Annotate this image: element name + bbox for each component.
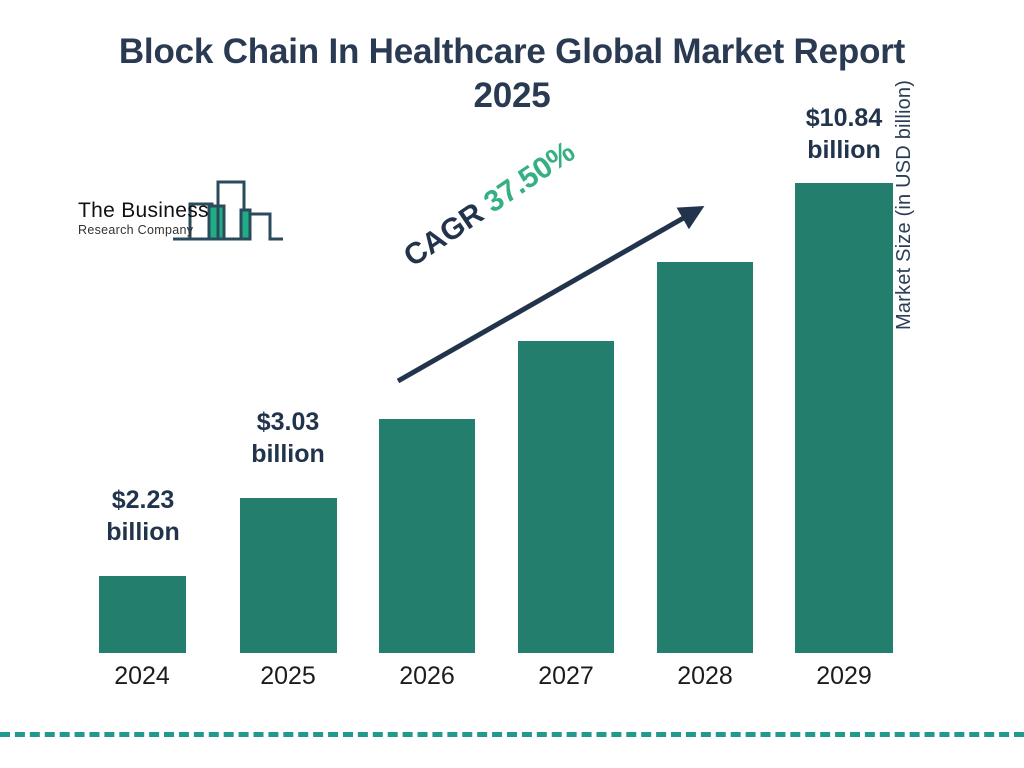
x-tick-2025: 2025	[228, 662, 348, 691]
value-label-2024: $2.23 billion	[77, 484, 209, 548]
chart-canvas: Block Chain In Healthcare Global Market …	[0, 0, 1024, 768]
x-tick-2026: 2026	[367, 662, 487, 691]
cagr-annotation: CAGR 37.50%	[398, 135, 582, 274]
bar-2024[interactable]	[99, 576, 186, 653]
x-tick-2027: 2027	[506, 662, 626, 691]
bar-2029[interactable]	[795, 183, 893, 653]
logo-text: The Business Research Company	[78, 200, 209, 238]
value-label-2029: $10.84 billion	[778, 102, 910, 166]
y-axis-title: Market Size (in USD billion)	[893, 10, 916, 330]
cagr-label: CAGR	[398, 197, 490, 274]
bar-2028[interactable]	[657, 262, 753, 653]
bar-2026[interactable]	[379, 419, 475, 653]
company-logo: The Business Research Company	[78, 176, 283, 248]
logo-line-1: The Business	[78, 200, 209, 222]
x-tick-2024: 2024	[82, 662, 202, 691]
bar-2025[interactable]	[240, 498, 337, 653]
logo-line-2: Research Company	[78, 223, 209, 238]
bar-2027[interactable]	[518, 341, 614, 653]
footer-divider	[0, 732, 1024, 737]
cagr-value: 37.50%	[478, 135, 581, 219]
x-tick-2028: 2028	[645, 662, 765, 691]
x-tick-2029: 2029	[784, 662, 904, 691]
value-label-2025: $3.03 billion	[222, 406, 354, 470]
